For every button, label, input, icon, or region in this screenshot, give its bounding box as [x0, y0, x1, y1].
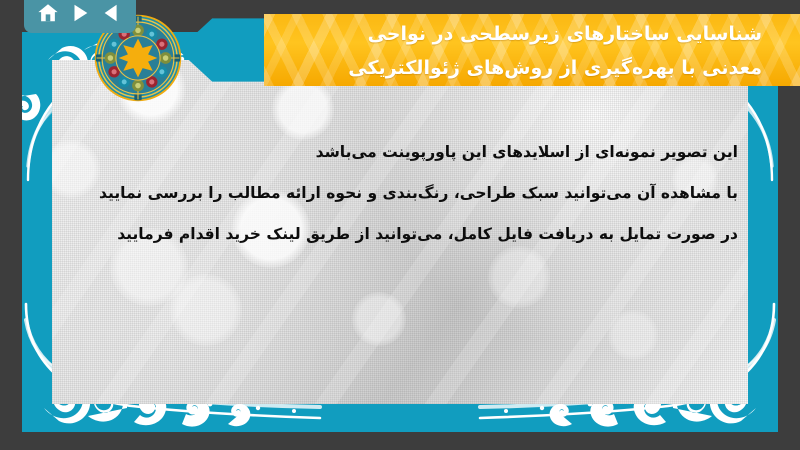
banner-gold-bar: شناسایی ساختارهای زیرسطحی در نواحی معدنی…	[264, 14, 800, 86]
body-line-2: با مشاهده آن می‌توانید سبک طراحی، رنگ‌بن…	[102, 173, 738, 214]
title-line-2: معدنی با بهره‌گیری از روش‌های ژئوالکتریک…	[278, 51, 762, 85]
bokeh-circle	[272, 78, 334, 140]
prev-slide-button[interactable]	[99, 0, 125, 26]
triangle-right-icon	[69, 2, 91, 24]
home-button[interactable]	[35, 0, 61, 26]
slide-viewer: این تصویر نمونه‌ای از اسلایدهای این پاور…	[0, 0, 800, 450]
triangle-left-icon	[101, 2, 123, 24]
bokeh-circle	[170, 274, 242, 346]
title-line-1: شناسایی ساختارهای زیرسطحی در نواحی	[278, 17, 762, 51]
bokeh-circle	[608, 310, 658, 360]
bokeh-circle	[488, 246, 550, 308]
home-icon	[37, 2, 59, 24]
body-line-3: در صورت تمایل به دریافت فایل کامل، می‌تو…	[102, 214, 738, 255]
slide-body-text: این تصویر نمونه‌ای از اسلایدهای این پاور…	[102, 132, 738, 255]
body-line-1: این تصویر نمونه‌ای از اسلایدهای این پاور…	[102, 132, 738, 173]
slide-title: شناسایی ساختارهای زیرسطحی در نواحی معدنی…	[264, 14, 800, 86]
slide-nav-toolbar[interactable]	[24, 0, 136, 33]
bokeh-circle	[352, 292, 406, 346]
bokeh-circle	[52, 140, 100, 198]
next-slide-button[interactable]	[67, 0, 93, 26]
